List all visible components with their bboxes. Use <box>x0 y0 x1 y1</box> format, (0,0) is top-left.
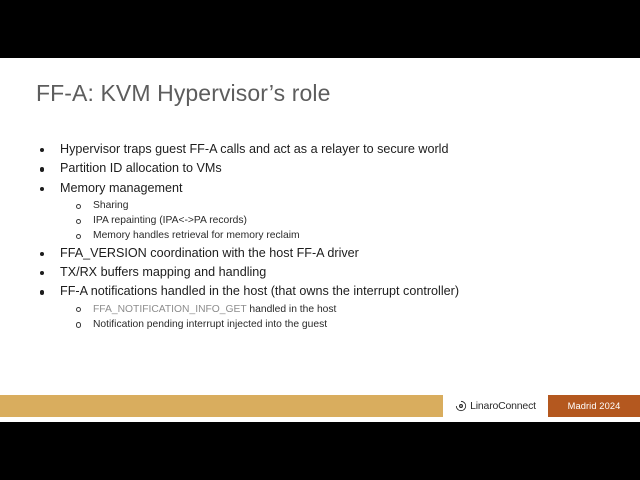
bullet-item: TX/RX buffers mapping and handling <box>0 263 640 282</box>
letterbox-bottom <box>0 422 640 480</box>
bullet-item: Memory management <box>0 179 640 198</box>
bullet-text: Partition ID allocation to VMs <box>60 161 222 175</box>
brand-name-text: LinaroConnect <box>470 400 536 412</box>
sub-bullet-item: Memory handles retrieval for memory recl… <box>0 228 640 243</box>
bullet-text: Memory management <box>60 181 183 195</box>
bullet-text: Hypervisor traps guest FF-A calls and ac… <box>60 142 448 156</box>
sub-bullet-text-rest: handled in the host <box>247 304 337 315</box>
letterbox-top <box>0 0 640 58</box>
video-player-viewport: FF-A: KVM Hypervisor’s role Hypervisor t… <box>0 0 640 480</box>
bullet-item: Partition ID allocation to VMs <box>0 159 640 178</box>
api-name-token: FFA_NOTIFICATION_INFO_GET <box>93 304 247 315</box>
sub-bullet-item: IPA repainting (IPA<->PA records) <box>0 213 640 228</box>
brand-logo: LinaroConnect <box>443 395 548 417</box>
bullet-list-root: Hypervisor traps guest FF-A calls and ac… <box>0 140 640 332</box>
slide-footer: LinaroConnect Madrid 2024 <box>0 395 640 417</box>
sub-bullet-text: FFA_NOTIFICATION_INFO_GET handled in the… <box>93 304 336 315</box>
event-badge: Madrid 2024 <box>548 395 640 417</box>
bullet-item: Hypervisor traps guest FF-A calls and ac… <box>0 140 640 159</box>
sub-bullet-text: IPA repainting (IPA<->PA records) <box>93 215 247 226</box>
sub-bullet-item: Sharing <box>0 198 640 213</box>
bullet-item: FFA_VERSION coordination with the host F… <box>0 244 640 263</box>
sub-bullet-text: Sharing <box>93 200 129 211</box>
sub-bullet-text: Notification pending interrupt injected … <box>93 319 327 330</box>
event-badge-text: Madrid 2024 <box>568 401 621 411</box>
footer-accent-bar <box>0 395 443 417</box>
bullet-text: TX/RX buffers mapping and handling <box>60 265 266 279</box>
bullet-text: FFA_VERSION coordination with the host F… <box>60 246 359 260</box>
bullet-text: FF-A notifications handled in the host (… <box>60 284 459 298</box>
sub-bullet-text: Memory handles retrieval for memory recl… <box>93 230 300 241</box>
linaro-swirl-icon <box>455 400 467 412</box>
bullet-item: FF-A notifications handled in the host (… <box>0 282 640 301</box>
slide-bullet-list: Hypervisor traps guest FF-A calls and ac… <box>0 140 640 332</box>
sub-bullet-item: Notification pending interrupt injected … <box>0 317 640 332</box>
presentation-slide: FF-A: KVM Hypervisor’s role Hypervisor t… <box>0 58 640 422</box>
slide-title: FF-A: KVM Hypervisor’s role <box>36 80 331 107</box>
sub-bullet-item: FFA_NOTIFICATION_INFO_GET handled in the… <box>0 302 640 317</box>
